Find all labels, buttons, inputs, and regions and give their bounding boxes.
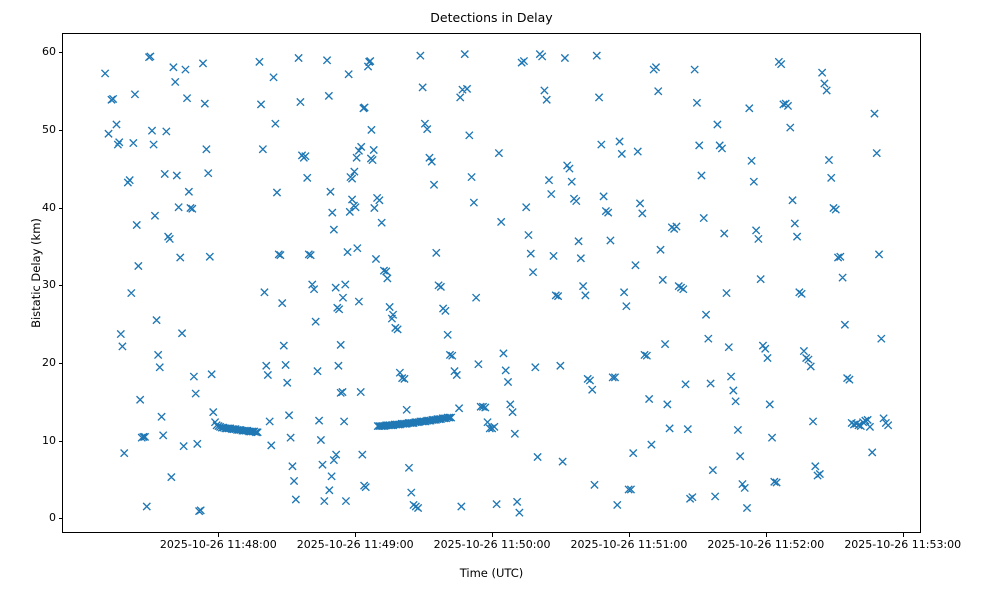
x-tick-mark: [629, 533, 630, 537]
x-tick-mark: [218, 533, 219, 537]
y-tick-label: 40: [16, 202, 56, 213]
x-axis-label: Time (UTC): [62, 566, 921, 580]
y-tick-label: 60: [16, 46, 56, 57]
y-tick-mark: [59, 441, 63, 442]
y-tick-label: 50: [16, 124, 56, 135]
x-tick-label: 2025-10-26 11:53:00: [803, 539, 988, 550]
y-tick-mark: [59, 52, 63, 53]
y-tick-label: 20: [16, 357, 56, 368]
y-tick-mark: [59, 363, 63, 364]
y-tick-mark: [59, 208, 63, 209]
y-axis-ticks: 0102030405060: [62, 33, 921, 533]
x-tick-mark: [903, 533, 904, 537]
matplotlib-figure: Detections in Delay Bistatic Delay (km) …: [0, 0, 988, 590]
y-axis-label: Bistatic Delay (km): [29, 123, 43, 423]
y-tick-mark: [59, 285, 63, 286]
x-tick-mark: [766, 533, 767, 537]
y-tick-mark: [59, 130, 63, 131]
y-tick-label: 10: [16, 435, 56, 446]
x-tick-mark: [355, 533, 356, 537]
y-tick-mark: [59, 518, 63, 519]
x-tick-mark: [492, 533, 493, 537]
y-tick-label: 30: [16, 279, 56, 290]
page-title: Detections in Delay: [62, 10, 921, 26]
y-tick-label: 0: [16, 512, 56, 523]
